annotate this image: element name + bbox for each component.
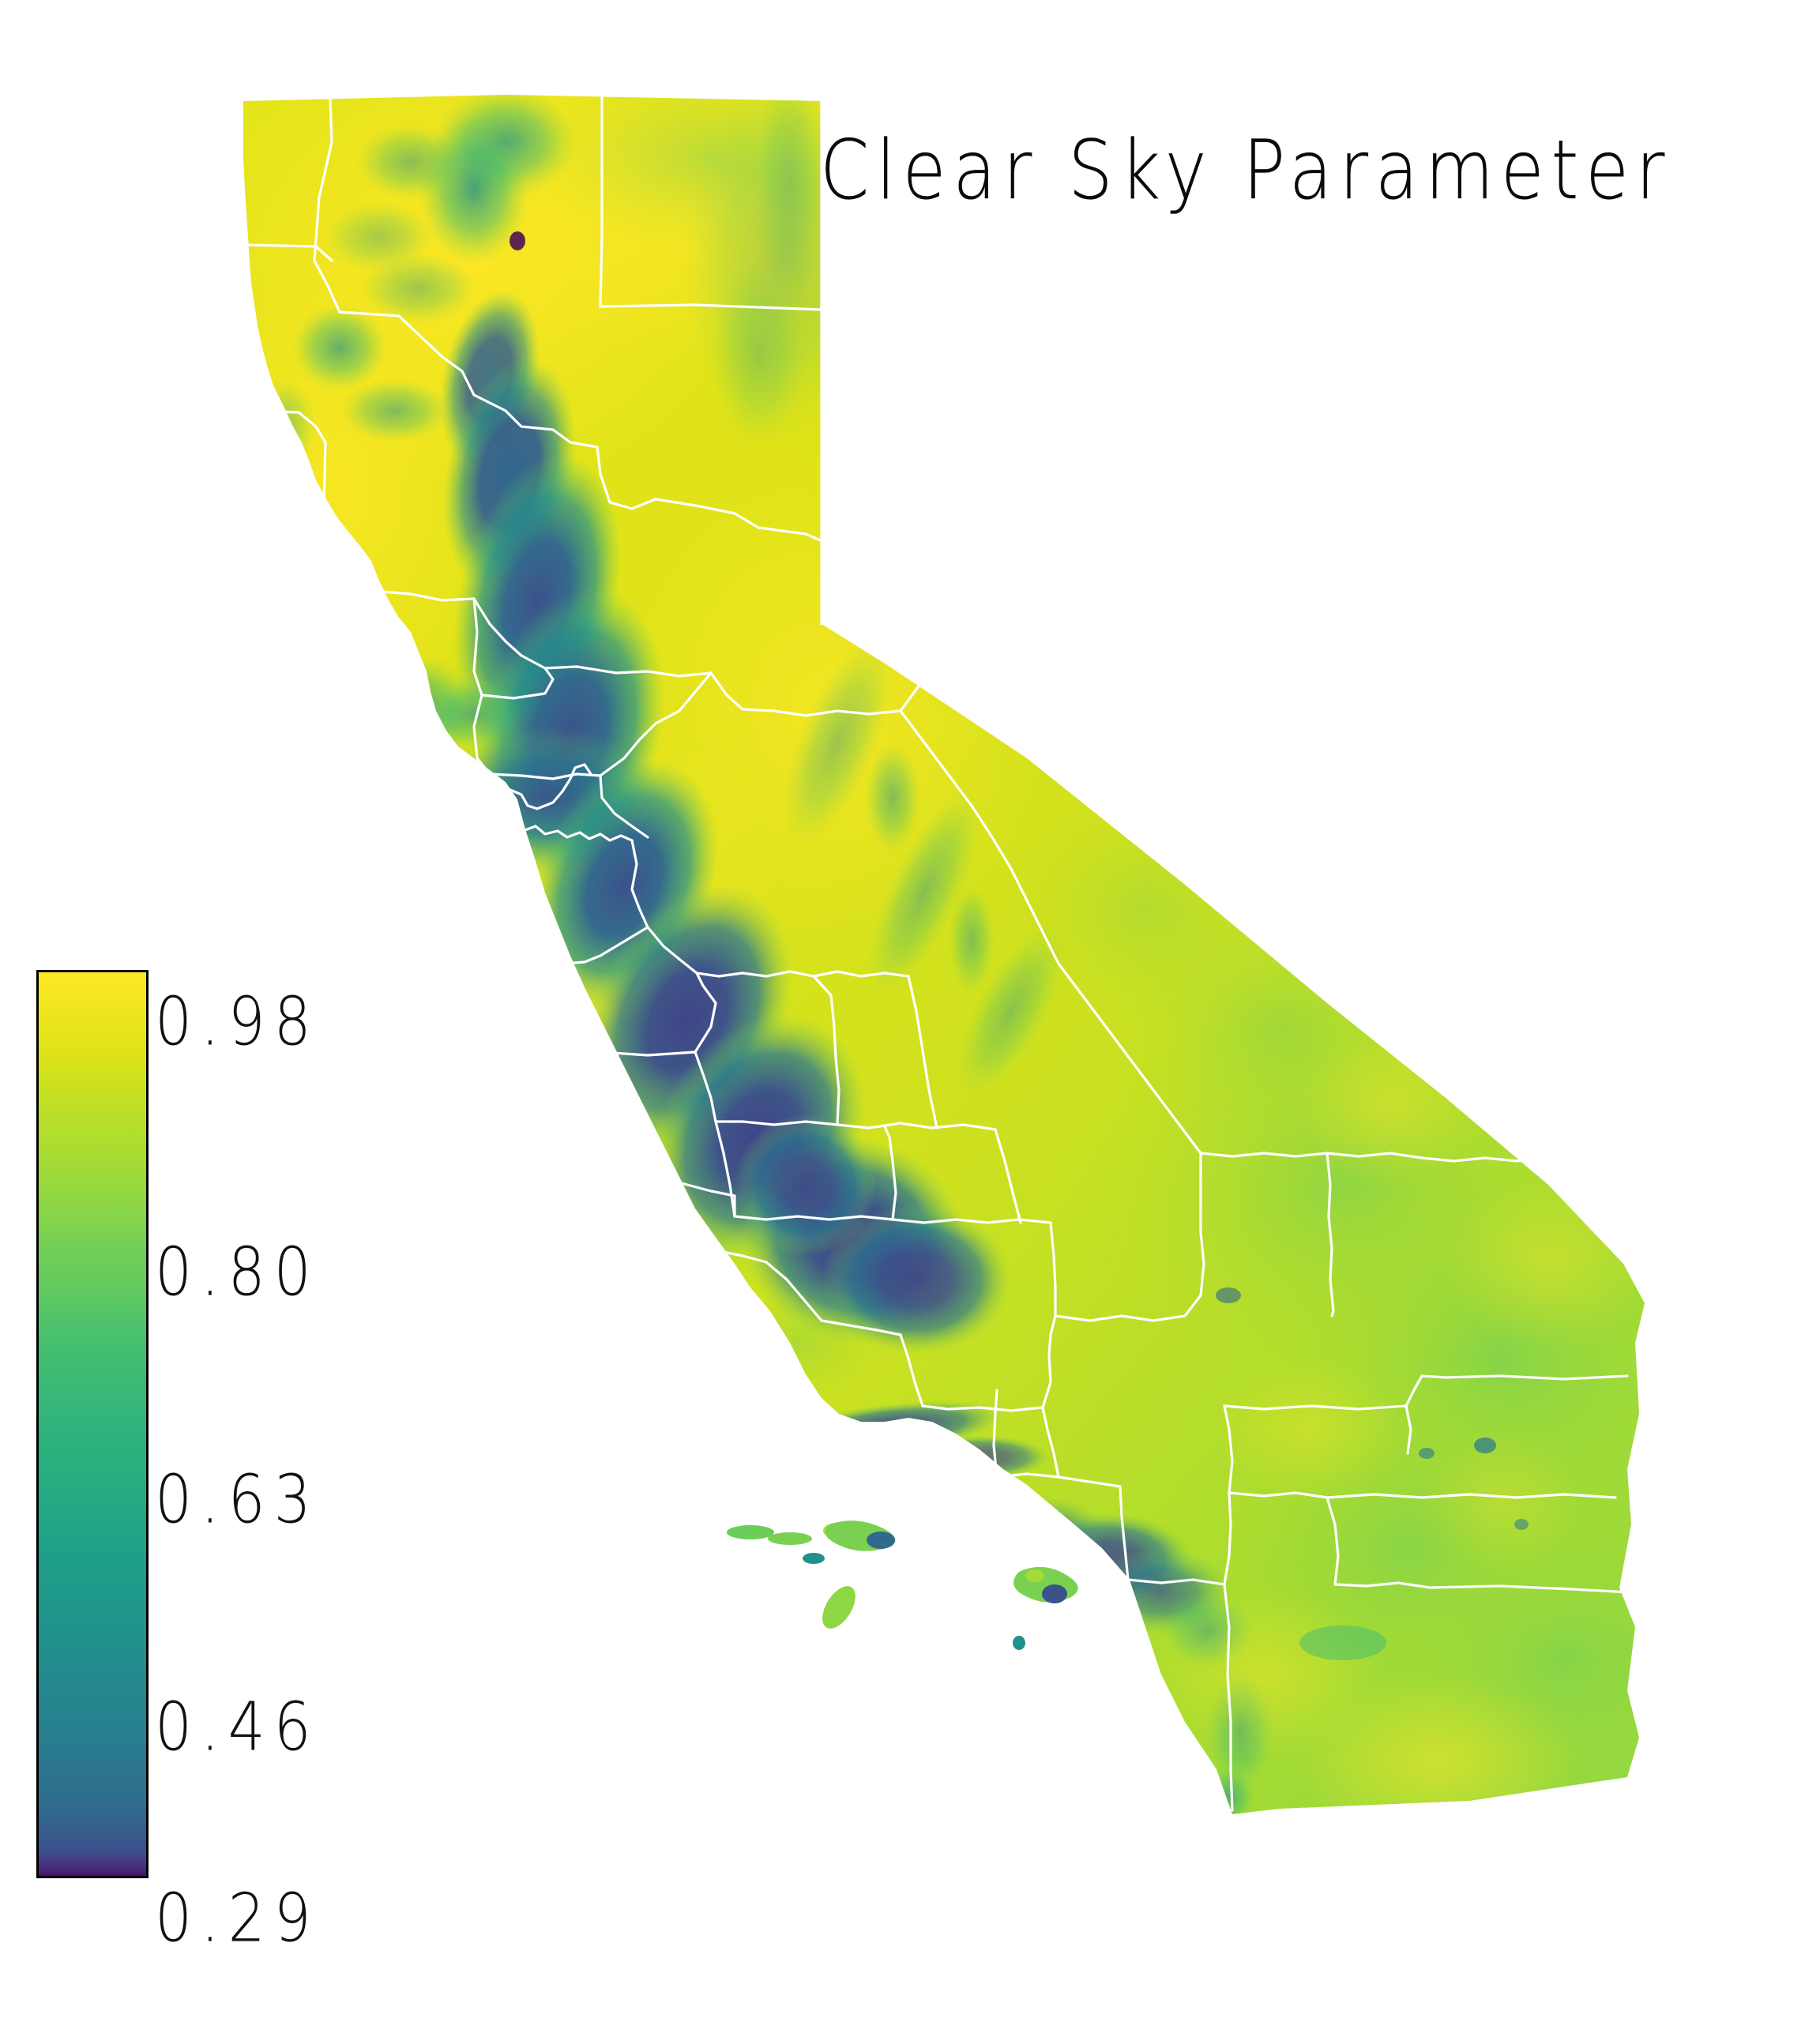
page-title: Clear Sky Parameter (820, 130, 1671, 212)
colorbar-tick-label-1: 0.80 (155, 1234, 320, 1311)
channel-islands (727, 1520, 1078, 1650)
colorbar-gradient (36, 970, 149, 1878)
colorbar (36, 970, 149, 1878)
colorbar-tick-label-4: 0.29 (155, 1880, 320, 1957)
colorbar-tick-label-3: 0.46 (155, 1689, 320, 1766)
colorbar-tick-label-2: 0.63 (155, 1461, 320, 1539)
raster-layer (166, 32, 1746, 1848)
colorbar-tick-label-0: 0.98 (155, 983, 320, 1061)
county-boundaries (245, 96, 1629, 1810)
